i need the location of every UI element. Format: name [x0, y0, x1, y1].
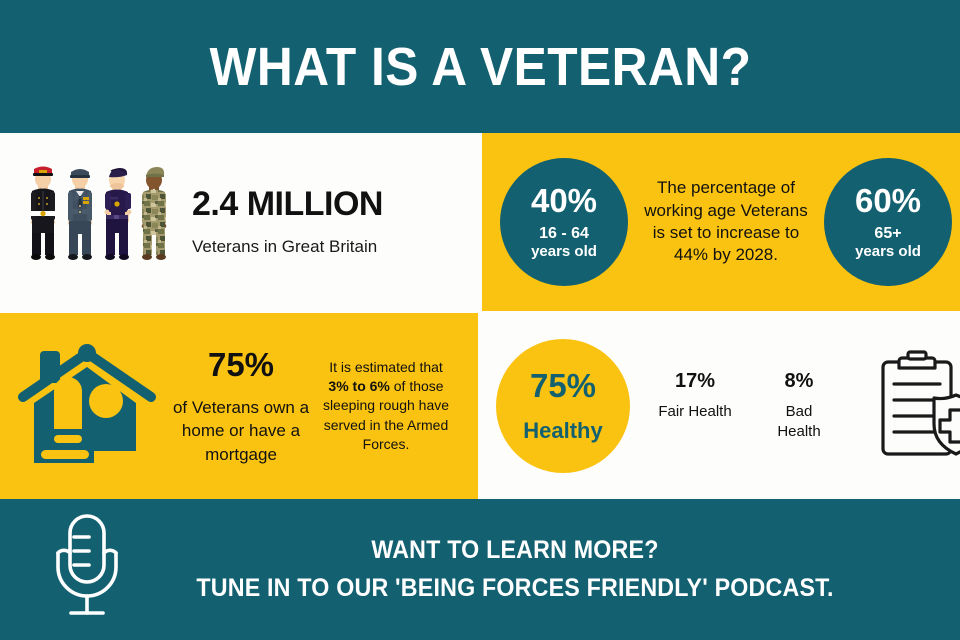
housing-percent: 75% — [166, 346, 316, 384]
health-figures: 17% Fair Health 8% Bad Health — [658, 370, 836, 443]
age-circle-senior: 60% 65+ years old — [824, 158, 952, 286]
veterans-total-subtitle: Veterans in Great Britain — [192, 237, 383, 257]
veterans-total-number: 2.4 MILLION — [192, 185, 383, 224]
header-banner: WHAT IS A VETERAN? — [0, 0, 960, 133]
panel-veterans-total: 2.4 MILLION Veterans in Great Britain — [0, 133, 478, 309]
housing-stat: 75% of Veterans own a home or have a mor… — [166, 346, 316, 466]
age-circle-working-age: 40% 16 - 64 years old — [500, 158, 628, 286]
four-service-personnel-illustration-icon — [18, 159, 178, 284]
age-circle-senior-percent: 60% — [855, 184, 921, 219]
health-circle-healthy: 75% Healthy — [496, 339, 630, 473]
health-fair-percent: 17% — [658, 370, 732, 393]
page-title: WHAT IS A VETERAN? — [209, 36, 751, 98]
veterans-total-text: 2.4 MILLION Veterans in Great Britain — [192, 185, 383, 257]
health-fair-label: Fair Health — [658, 402, 732, 422]
panel-health: 75% Healthy 17% Fair Health 8% Bad Healt… — [482, 313, 960, 499]
age-circle-senior-range: 65+ — [874, 225, 901, 243]
clipboard-medical-shield-icon — [878, 348, 960, 465]
panel-housing: 75% of Veterans own a home or have a mor… — [0, 313, 478, 499]
age-circle-senior-unit: years old — [855, 243, 921, 260]
footer-call-to-action: WANT TO LEARN MORE? TUNE IN TO OUR 'BEIN… — [130, 532, 900, 607]
panel-age-breakdown: 40% 16 - 64 years old The percentage of … — [482, 133, 960, 311]
health-figure-fair: 17% Fair Health — [658, 370, 732, 443]
health-figure-bad: 8% Bad Health — [762, 370, 836, 443]
footer-line-1: WANT TO LEARN MORE? — [157, 532, 873, 570]
health-bad-percent: 8% — [762, 370, 836, 393]
footer-line-2: TUNE IN TO OUR 'BEING FORCES FRIENDLY' P… — [157, 570, 873, 608]
age-circle-working-unit: years old — [531, 243, 597, 260]
sleeping-rough-note: It is estimated that 3% to 6% of those s… — [322, 358, 450, 453]
health-healthy-label: Healthy — [523, 418, 602, 444]
health-healthy-percent: 75% — [530, 369, 596, 402]
age-circle-working-percent: 40% — [531, 184, 597, 219]
age-circle-working-range: 16 - 64 — [539, 225, 589, 243]
housing-subtitle: of Veterans own a home or have a mortgag… — [166, 396, 316, 466]
age-projection-note: The percentage of working age Veterans i… — [628, 177, 824, 267]
sleeping-rough-note-range: 3% to 6% — [328, 378, 389, 394]
infographic-root: WHAT IS A VETERAN? — [0, 0, 960, 640]
house-icon — [12, 329, 162, 484]
health-bad-label: Bad Health — [762, 402, 836, 443]
stats-grid: 2.4 MILLION Veterans in Great Britain 40… — [0, 133, 960, 499]
footer-banner: WANT TO LEARN MORE? TUNE IN TO OUR 'BEIN… — [0, 499, 960, 640]
sleeping-rough-note-prefix: It is estimated that — [329, 359, 443, 375]
microphone-icon — [44, 511, 130, 628]
